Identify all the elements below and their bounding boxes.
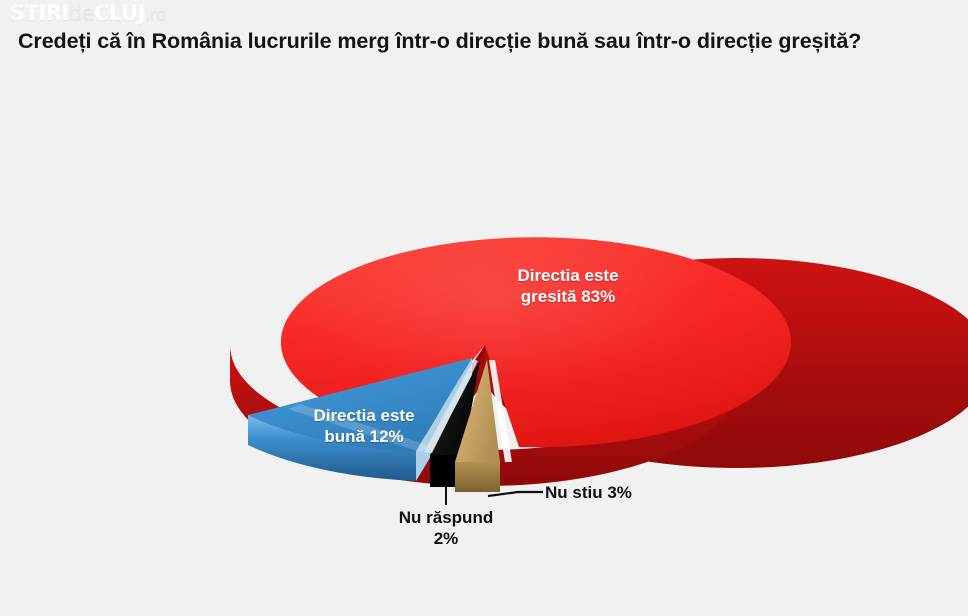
slice-label-directia-buna-line1: Directia este xyxy=(313,406,414,425)
leader-line-nu-stiu xyxy=(488,492,543,496)
callout-label-nu-stiu: Nu stiu 3% xyxy=(545,483,632,504)
slice-label-directia-buna: Directia este bună 12% xyxy=(278,406,450,447)
slice-label-directia-buna-line2: bună 12% xyxy=(324,427,403,446)
poll-chart-page: STIRIdeCLUJ.ro Credeți că în România luc… xyxy=(0,0,968,616)
slice-label-directia-gresita-line1: Directia este xyxy=(517,266,618,285)
slice-label-directia-gresita: Directia este gresită 83% xyxy=(468,266,668,307)
callout-label-nu-raspund-line2: 2% xyxy=(434,529,459,548)
callout-label-nu-raspund-line1: Nu răspund xyxy=(399,508,493,527)
pie-chart: Directia este gresită 83% Directia este … xyxy=(0,0,968,616)
slice-label-directia-gresita-line2: gresită 83% xyxy=(521,287,616,306)
callout-label-nu-raspund: Nu răspund 2% xyxy=(381,508,511,549)
